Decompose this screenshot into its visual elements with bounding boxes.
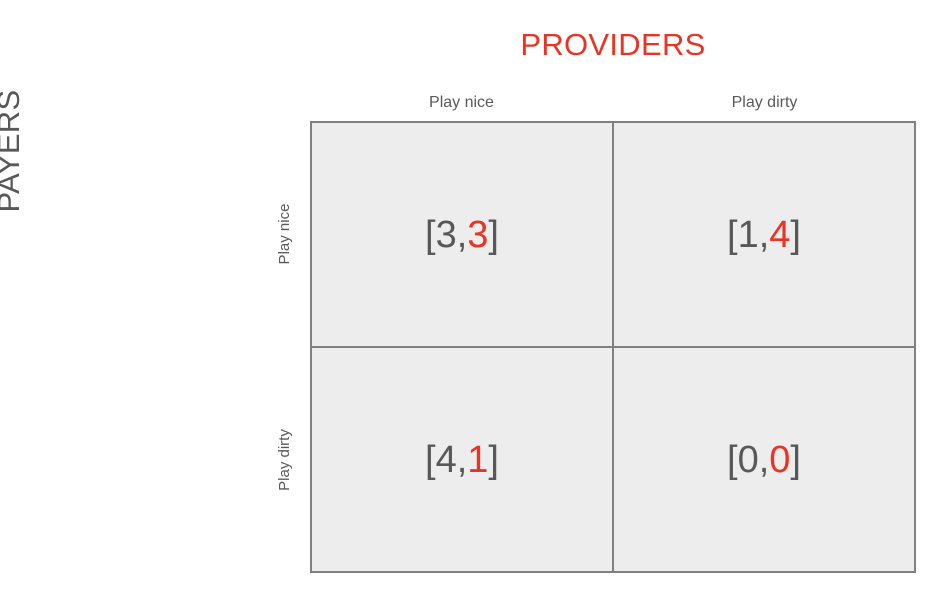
row-payoff-value: 3 bbox=[436, 214, 457, 256]
row-header-play-nice: Play nice bbox=[268, 121, 302, 347]
row-player-title: PAYERS bbox=[0, 0, 39, 377]
bracket-open: [ bbox=[727, 214, 738, 256]
payoff-separator: , bbox=[457, 214, 468, 256]
payoff-nice-dirty: [1,4] bbox=[614, 213, 914, 257]
matrix-cell-dirty-nice: [4,1] bbox=[312, 348, 612, 571]
payoff-matrix-grid: [3,3] [1,4] [4,1] [0,0] bbox=[310, 121, 916, 573]
column-header-row: Play nice Play dirty bbox=[310, 92, 916, 118]
matrix-cell-nice-dirty: [1,4] bbox=[614, 123, 914, 346]
row-payoff-value: 0 bbox=[738, 439, 759, 481]
column-payoff-value: 0 bbox=[769, 439, 790, 481]
row-header-column: Play nice Play dirty bbox=[268, 121, 302, 573]
bracket-close: ] bbox=[790, 439, 801, 481]
row-payoff-value: 4 bbox=[436, 439, 457, 481]
payoff-nice-nice: [3,3] bbox=[312, 213, 612, 257]
payoff-separator: , bbox=[759, 439, 770, 481]
column-payoff-value: 1 bbox=[467, 439, 488, 481]
row-header-play-nice-label: Play nice bbox=[275, 204, 295, 265]
payoff-dirty-nice: [4,1] bbox=[312, 438, 612, 482]
bracket-close: ] bbox=[488, 214, 499, 256]
row-header-play-dirty: Play dirty bbox=[268, 347, 302, 573]
matrix-cell-nice-nice: [3,3] bbox=[312, 123, 612, 346]
row-header-play-dirty-label: Play dirty bbox=[275, 429, 295, 491]
payoff-separator: , bbox=[759, 214, 770, 256]
column-payoff-value: 4 bbox=[769, 214, 790, 256]
bracket-open: [ bbox=[425, 214, 436, 256]
column-header-play-nice: Play nice bbox=[310, 92, 613, 118]
row-payoff-value: 1 bbox=[738, 214, 759, 256]
bracket-close: ] bbox=[790, 214, 801, 256]
column-player-title: PROVIDERS bbox=[310, 26, 916, 64]
matrix-cell-dirty-dirty: [0,0] bbox=[614, 348, 914, 571]
payoff-separator: , bbox=[457, 439, 468, 481]
column-payoff-value: 3 bbox=[467, 214, 488, 256]
bracket-open: [ bbox=[425, 439, 436, 481]
column-header-play-dirty: Play dirty bbox=[613, 92, 916, 118]
bracket-open: [ bbox=[727, 439, 738, 481]
payoff-dirty-dirty: [0,0] bbox=[614, 438, 914, 482]
bracket-close: ] bbox=[488, 439, 499, 481]
